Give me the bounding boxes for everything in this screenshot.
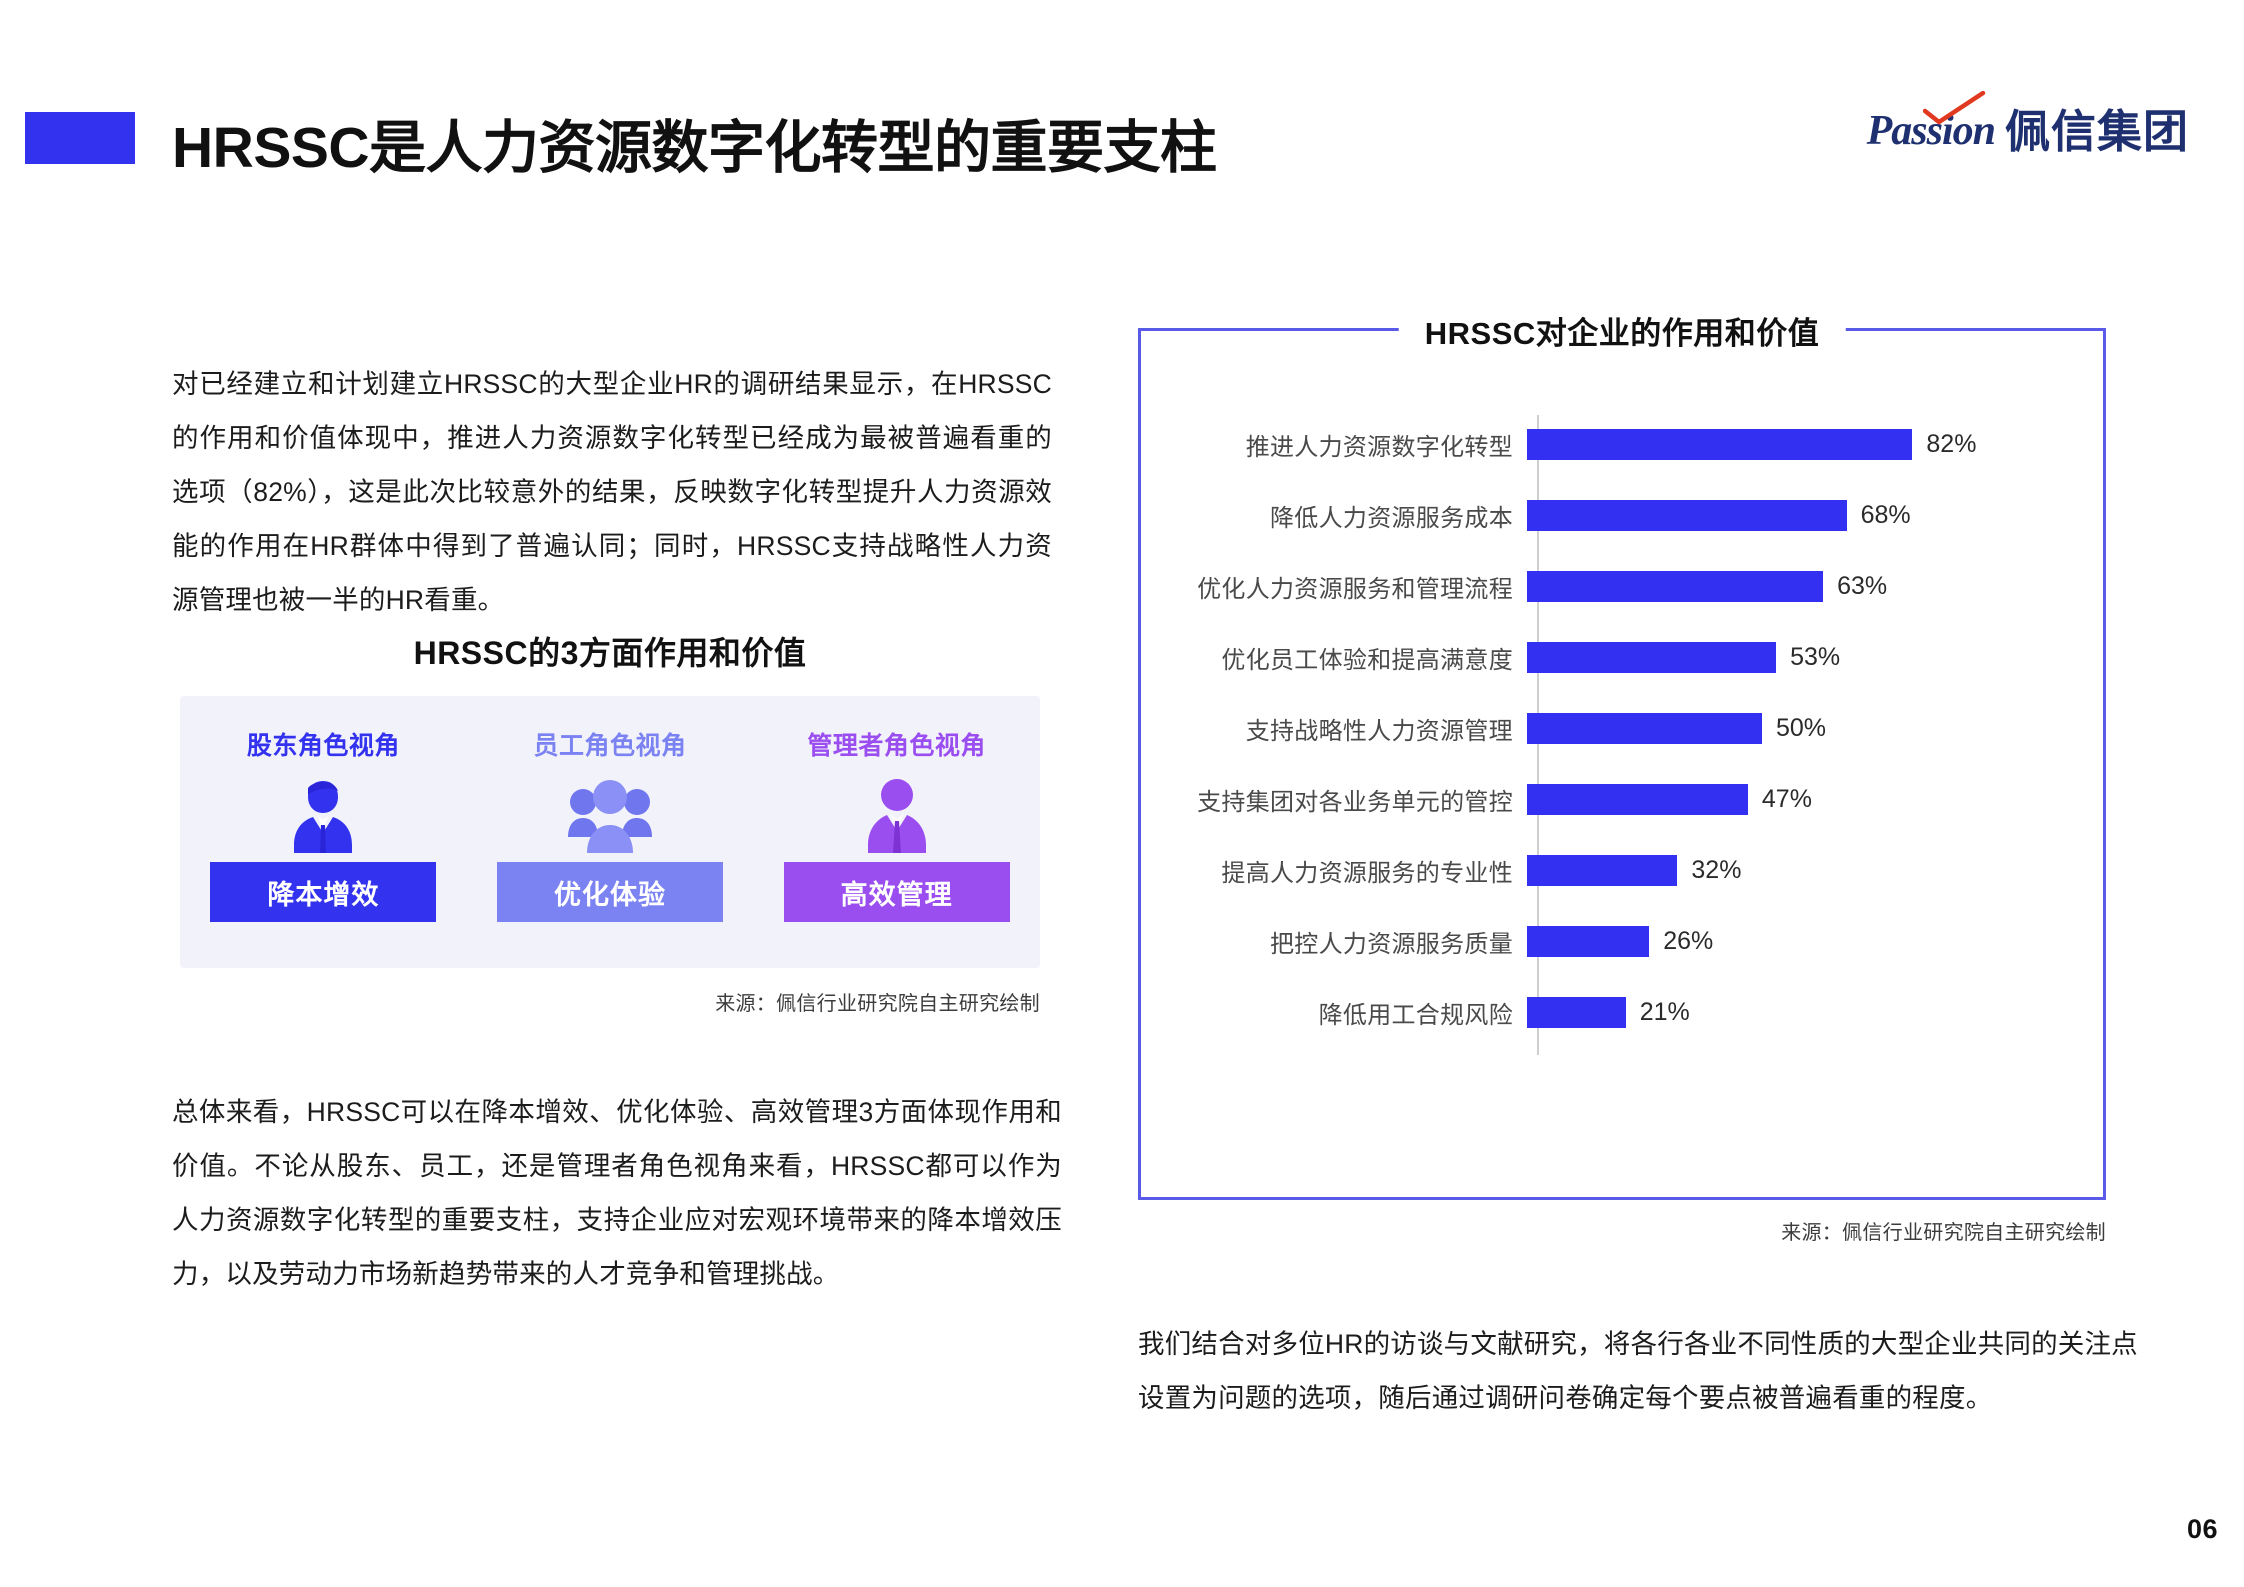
chart-bar-track: 82% (1525, 409, 2103, 480)
chart-bar-value: 68% (1861, 501, 1911, 530)
chart-bar-track: 63% (1525, 551, 2103, 622)
chart-bar-fill (1527, 713, 1762, 744)
chart-bar-row: 支持战略性人力资源管理50% (1141, 693, 2103, 764)
chart-bar-label: 优化人力资源服务和管理流程 (1141, 569, 1525, 604)
chart-bar-label: 支持集团对各业务单元的管控 (1141, 782, 1525, 817)
chart-bar-fill (1527, 855, 1677, 886)
chart-body: 推进人力资源数字化转型82%降低人力资源服务成本68%优化人力资源服务和管理流程… (1141, 409, 2103, 1149)
chart-bar-fill (1527, 784, 1748, 815)
chart-bar-track: 32% (1525, 835, 2103, 906)
role-card-shareholder[interactable]: 股东角色视角 降本增效 (202, 726, 444, 922)
chart-bar-value: 26% (1663, 927, 1713, 956)
chart-bar-value: 63% (1837, 572, 1887, 601)
role-chip-manager[interactable]: 高效管理 (784, 862, 1010, 922)
chart-bar-row: 降低用工合规风险21% (1141, 977, 2103, 1048)
chart-bar-fill (1527, 571, 1823, 602)
chart-bar-value: 82% (1926, 430, 1976, 459)
chart-bar-track: 68% (1525, 480, 2103, 551)
page-header: HRSSC是人力资源数字化转型的重要支柱 Passion 佩信集团 (0, 0, 2244, 200)
roles-heading-wrap: HRSSC的3方面作用和价值 (180, 628, 1040, 674)
page-title: HRSSC是人力资源数字化转型的重要支柱 (172, 102, 1217, 184)
chart-bar-label: 优化员工体验和提高满意度 (1141, 640, 1525, 675)
chart-bar-row: 推进人力资源数字化转型82% (1141, 409, 2103, 480)
chart-bar-value: 32% (1691, 856, 1741, 885)
role-chip-employee[interactable]: 优化体验 (497, 862, 723, 922)
summary-paragraph: 总体来看，HRSSC可以在降本增效、优化体验、高效管理3方面体现作用和价值。不论… (172, 1085, 1062, 1301)
left-source-note: 来源：佩信行业研究院自主研究绘制 (180, 987, 1040, 1016)
chart-bar-track: 47% (1525, 764, 2103, 835)
chart-bar-row: 优化人力资源服务和管理流程63% (1141, 551, 2103, 622)
chart-bar-label: 支持战略性人力资源管理 (1141, 711, 1525, 746)
single-person-icon (285, 774, 361, 856)
chart-bar-track: 26% (1525, 906, 2103, 977)
chart-bar-value: 50% (1776, 714, 1826, 743)
chart-bar-row: 支持集团对各业务单元的管控47% (1141, 764, 2103, 835)
chart-bar-value: 53% (1790, 643, 1840, 672)
chart-title-wrap: HRSSC对企业的作用和价值 (1399, 308, 1846, 353)
intro-paragraph: 对已经建立和计划建立HRSSC的大型企业HR的调研结果显示，在HRSSC的作用和… (172, 357, 1052, 627)
chart-bar-track: 21% (1525, 977, 2103, 1048)
chart-bar-value: 47% (1762, 785, 1812, 814)
chart-bar-label: 降低人力资源服务成本 (1141, 498, 1525, 533)
chart-bar-row: 优化员工体验和提高满意度53% (1141, 622, 2103, 693)
chart-bar-row: 提高人力资源服务的专业性32% (1141, 835, 2103, 906)
brand-logo-latin-text: Passion (1867, 110, 1995, 152)
page-number: 06 (2187, 1514, 2218, 1545)
chart-bar-row: 降低人力资源服务成本68% (1141, 480, 2103, 551)
chart-bar-track: 50% (1525, 693, 2103, 764)
chart-bar-label: 提高人力资源服务的专业性 (1141, 853, 1525, 888)
chart-bar-label: 降低用工合规风险 (1141, 995, 1525, 1030)
chart-bar-fill (1527, 926, 1649, 957)
chart-bar-label: 推进人力资源数字化转型 (1141, 427, 1525, 462)
chart-bar-rows: 推进人力资源数字化转型82%降低人力资源服务成本68%优化人力资源服务和管理流程… (1141, 409, 2103, 1048)
roles-panel: 股东角色视角 降本增效 员工角色视角 (180, 696, 1040, 968)
title-accent-block (25, 112, 135, 164)
manager-person-icon (860, 774, 934, 856)
chart-bar-fill (1527, 642, 1776, 673)
role-title-shareholder: 股东角色视角 (247, 726, 400, 762)
group-people-icon (564, 774, 656, 856)
brand-logo: Passion 佩信集团 (1867, 103, 2189, 159)
right-source-note: 来源：佩信行业研究院自主研究绘制 (1138, 1216, 2106, 1245)
role-title-manager: 管理者角色视角 (807, 726, 986, 762)
role-chip-shareholder[interactable]: 降本增效 (210, 862, 436, 922)
roles-row: 股东角色视角 降本增效 员工角色视角 (180, 696, 1040, 968)
method-paragraph: 我们结合对多位HR的访谈与文献研究，将各行各业不同性质的大型企业共同的关注点设置… (1138, 1317, 2148, 1425)
chart-bar-track: 53% (1525, 622, 2103, 693)
role-title-employee: 员工角色视角 (533, 726, 686, 762)
chart-bar-row: 把控人力资源服务质量26% (1141, 906, 2103, 977)
role-card-manager[interactable]: 管理者角色视角 高效管理 (776, 726, 1018, 922)
chart-title: HRSSC对企业的作用和价值 (1425, 316, 1820, 351)
chart-bar-label: 把控人力资源服务质量 (1141, 924, 1525, 959)
role-card-employee[interactable]: 员工角色视角 优化体验 (489, 726, 731, 922)
chart-bar-fill (1527, 500, 1847, 531)
roles-heading: HRSSC的3方面作用和价值 (180, 628, 1040, 674)
chart-bar-fill (1527, 997, 1626, 1028)
chart-bar-value: 21% (1640, 998, 1690, 1027)
chart-bar-fill (1527, 429, 1912, 460)
left-column: 对已经建立和计划建立HRSSC的大型企业HR的调研结果显示，在HRSSC的作用和… (172, 330, 1052, 653)
brand-logo-chinese-text: 佩信集团 (2005, 109, 2189, 154)
chart-panel: HRSSC对企业的作用和价值 推进人力资源数字化转型82%降低人力资源服务成本6… (1138, 328, 2106, 1200)
